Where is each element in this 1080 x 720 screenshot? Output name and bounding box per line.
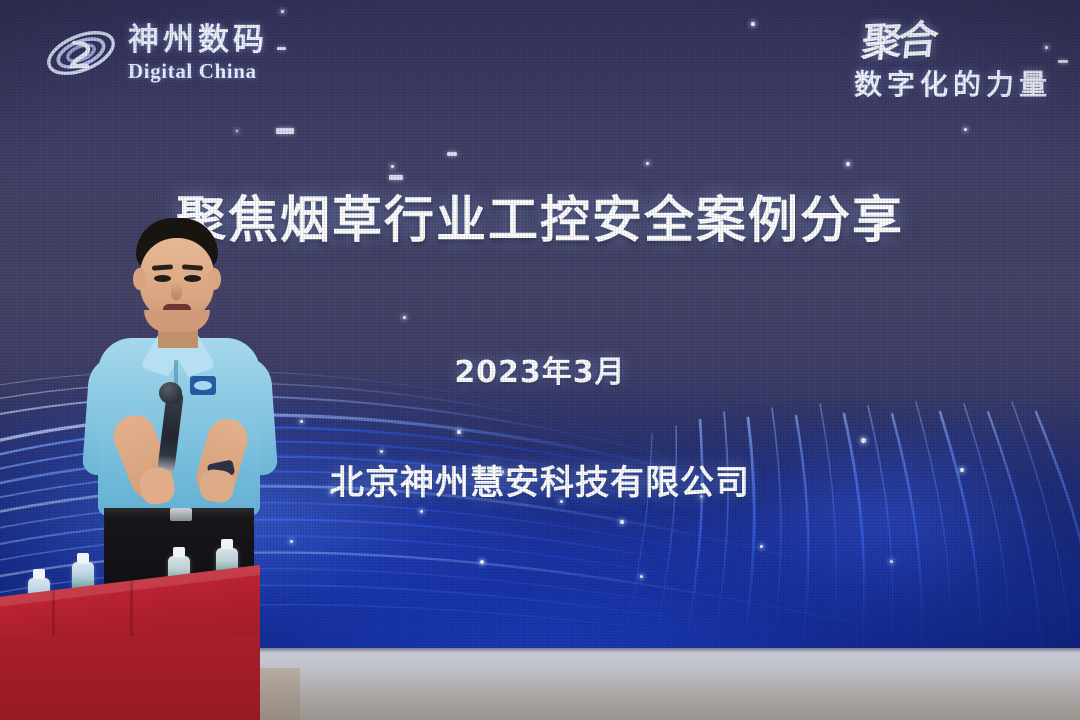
speaker-nose [171,282,182,300]
bottle-cap [77,553,89,563]
speaker-belt-buckle [170,508,192,521]
speaker-chest-logo-patch [190,376,216,395]
speaker-ear-right [208,268,221,290]
bottle-cap [33,569,45,579]
bottle-cap [221,539,233,549]
red-table-skirt-lower [0,636,260,720]
speaker-chin [144,310,210,332]
bottle-cap [173,547,185,557]
screenshot-stage: 神州数码 Digital China 聚合 数字化的力量 聚焦烟草行业工控安全案… [0,0,1080,720]
speaker-ear-left [133,268,146,290]
speaker-eye-right [184,275,201,282]
speaker-eye-left [154,275,171,282]
